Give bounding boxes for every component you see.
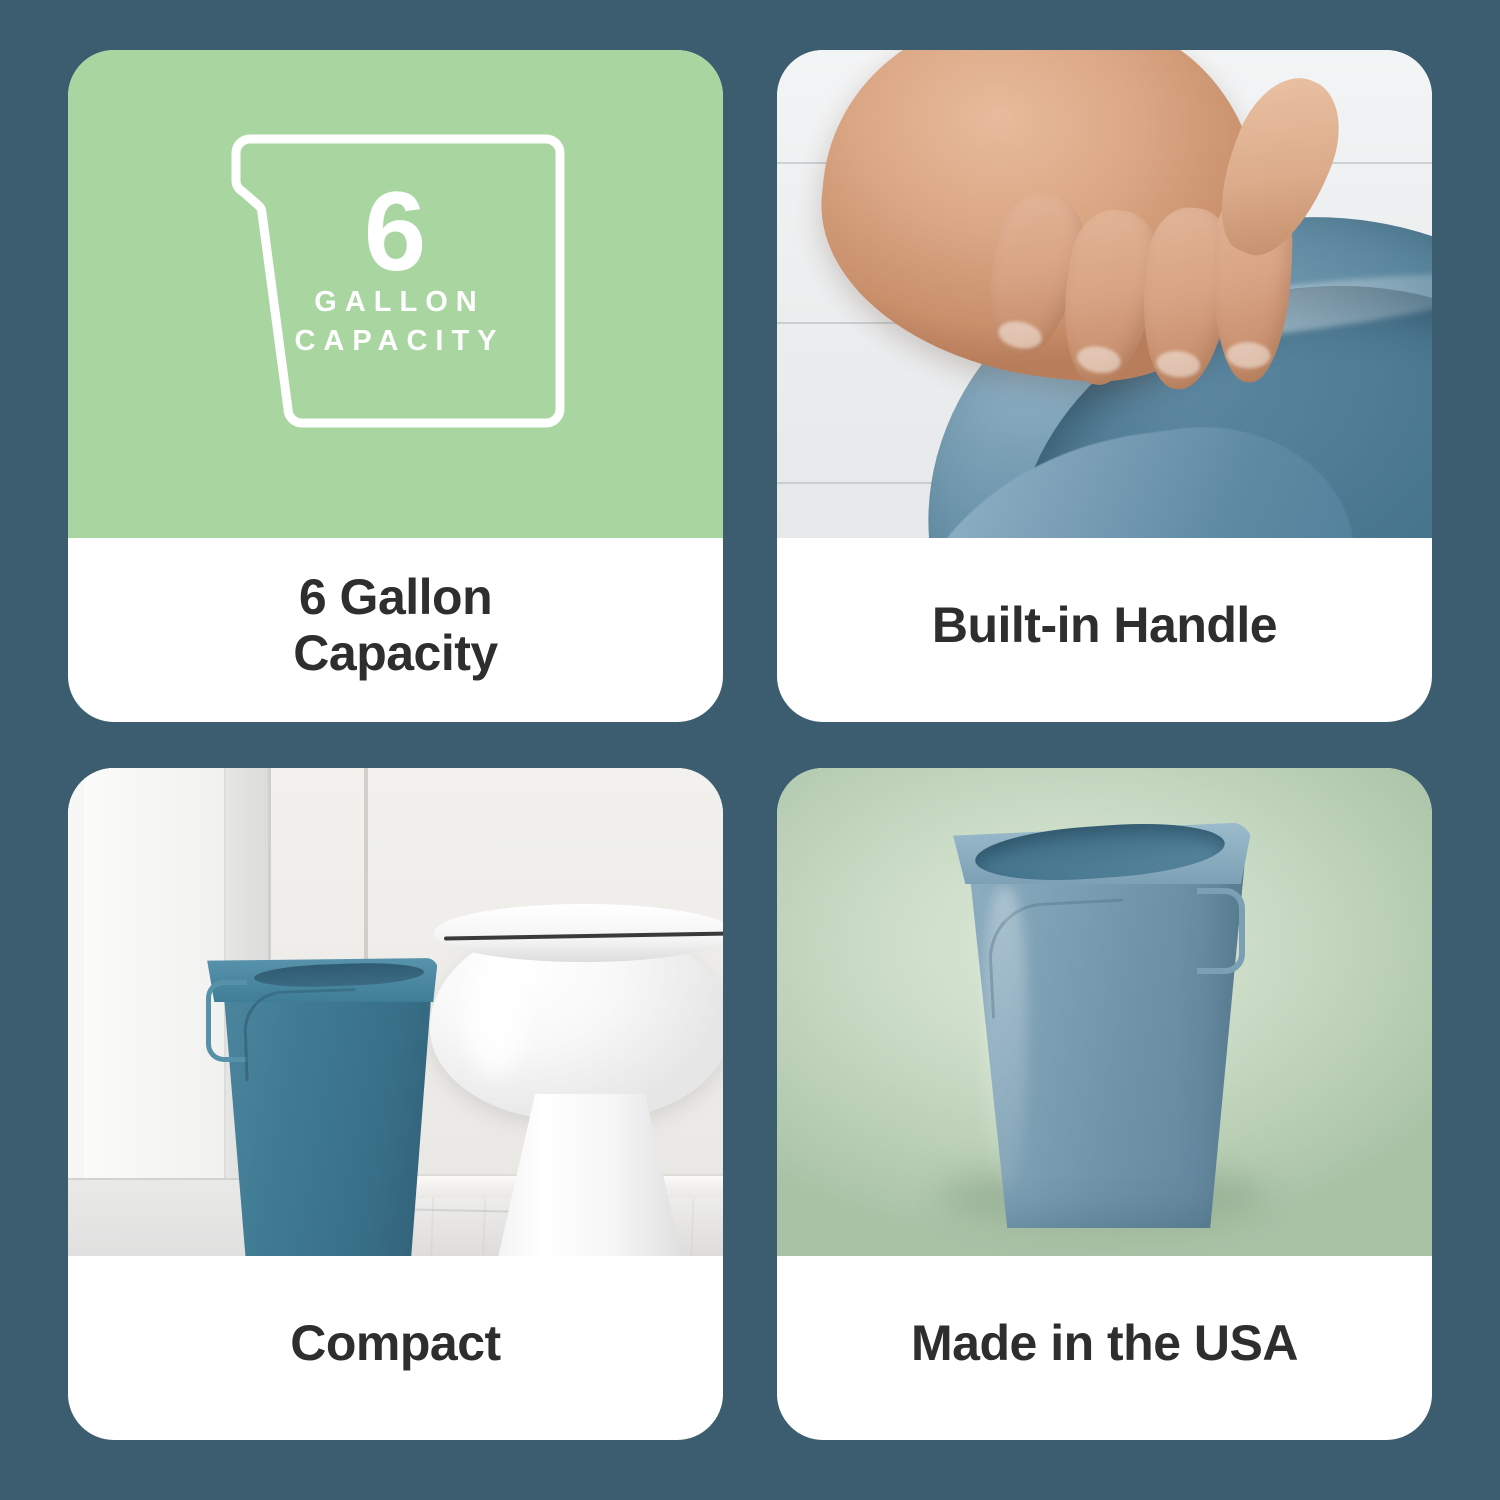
caption-made-in-usa: Made in the USA [911, 1315, 1298, 1371]
toilet-highlight [466, 956, 526, 1076]
vanity-panel [84, 768, 226, 1178]
trash-can-crease [986, 898, 1129, 1018]
product-photo-media [777, 768, 1432, 1256]
caption-area-made-in-usa: Made in the USA [777, 1256, 1432, 1440]
feature-card-compact[interactable]: Compact [68, 768, 723, 1440]
hand [805, 50, 1280, 398]
caption-handle: Built-in Handle [932, 597, 1277, 653]
capacity-icon-media: 6 GALLON CAPACITY [68, 50, 723, 538]
feature-grid-page: 6 GALLON CAPACITY 6 Gallon Capacity [0, 0, 1500, 1500]
caption-area-handle: Built-in Handle [777, 538, 1432, 722]
fingernail [1075, 343, 1123, 376]
handle-photo-media [777, 50, 1432, 538]
wall-corner-seam [364, 768, 368, 968]
fingernail [1226, 341, 1271, 369]
trash-can-crease [242, 988, 358, 1081]
fingernail [1155, 349, 1201, 379]
caption-area-compact: Compact [68, 1256, 723, 1440]
feature-card-capacity[interactable]: 6 GALLON CAPACITY 6 Gallon Capacity [68, 50, 723, 722]
feature-card-made-in-usa[interactable]: Made in the USA [777, 768, 1432, 1440]
trash-can-handle [1197, 888, 1245, 974]
caption-area-capacity: 6 Gallon Capacity [68, 538, 723, 722]
trash-can-handle [206, 980, 247, 1062]
feature-card-handle[interactable]: Built-in Handle [777, 50, 1432, 722]
vanity-toe-kick [68, 1178, 268, 1256]
feature-card-grid: 6 GALLON CAPACITY 6 Gallon Capacity [68, 50, 1432, 1440]
caption-compact: Compact [290, 1315, 500, 1371]
caption-capacity: 6 Gallon Capacity [293, 569, 497, 681]
trash-can-outline-icon [216, 109, 576, 479]
fingernail [996, 318, 1044, 353]
bathroom-photo-media [68, 768, 723, 1256]
